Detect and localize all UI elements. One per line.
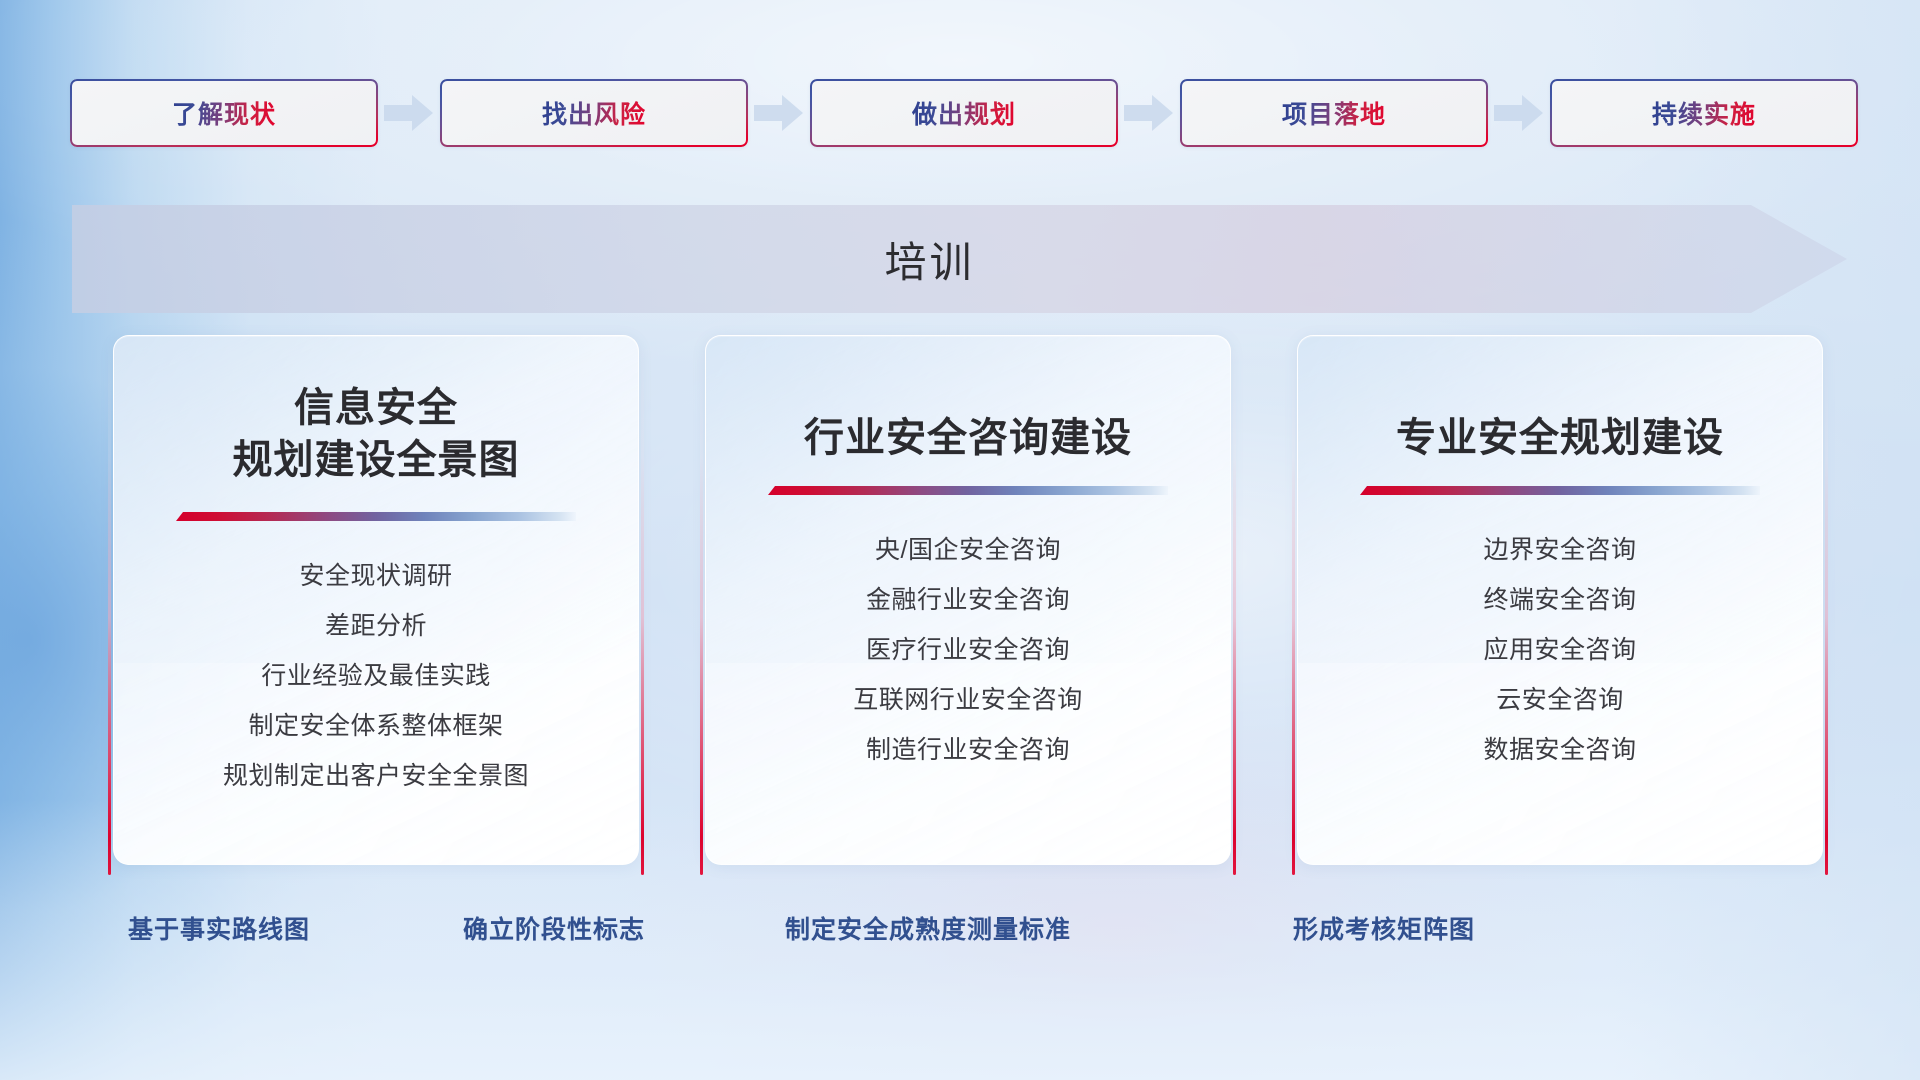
footer-label-4: 形成考核矩阵图 [1293,910,1475,946]
capability-card-row: 信息安全 规划建设全景图 安全现状调研 差距分析 行业经验及最佳实践 制定安全体… [108,335,1828,875]
list-item: 规划制定出客户安全全景图 [223,751,529,801]
step-chip-3[interactable]: 做出规划 [810,79,1118,147]
card-right-accent-bar [1233,339,1236,875]
training-banner-label: 培训 [72,205,1847,313]
card-right-accent-bar [641,339,644,875]
capability-card-3[interactable]: 专业安全规划建设 边界安全咨询 终端安全咨询 应用安全咨询 云安全咨询 数据安全… [1292,335,1828,875]
step-label-5: 持续实施 [1652,95,1756,131]
footer-label-1: 基于事实路线图 [128,910,310,946]
capability-card-1[interactable]: 信息安全 规划建设全景图 安全现状调研 差距分析 行业经验及最佳实践 制定安全体… [108,335,644,875]
list-item: 云安全咨询 [1496,675,1624,725]
card-left-accent-bar [1292,339,1295,875]
list-item: 差距分析 [325,601,427,651]
list-item: 制定安全体系整体框架 [248,701,503,751]
list-item: 数据安全咨询 [1483,725,1636,775]
footer-label-3: 制定安全成熟度测量标准 [785,910,1071,946]
step-label-4: 项目落地 [1282,95,1386,131]
card-list-2: 央/国企安全咨询 金融行业安全咨询 医疗行业安全咨询 互联网行业安全咨询 制造行… [706,525,1230,775]
card-right-accent-bar [1825,339,1828,875]
list-item: 边界安全咨询 [1483,525,1636,575]
card-divider-2 [768,486,1168,495]
list-item: 终端安全咨询 [1483,575,1636,625]
list-item: 制造行业安全咨询 [866,725,1070,775]
list-item: 央/国企安全咨询 [875,525,1061,575]
arrow-right-icon [378,90,440,136]
arrow-right-icon [1488,90,1550,136]
card-list-1: 安全现状调研 差距分析 行业经验及最佳实践 制定安全体系整体框架 规划制定出客户… [114,551,638,801]
card-divider-3 [1360,486,1760,495]
training-banner: 培训 [72,205,1847,313]
step-label-2: 找出风险 [542,95,646,131]
step-chip-4[interactable]: 项目落地 [1180,79,1488,147]
card-left-accent-bar [108,339,111,875]
step-chip-2[interactable]: 找出风险 [440,79,748,147]
list-item: 行业经验及最佳实践 [261,651,491,701]
arrow-right-icon [1118,90,1180,136]
step-chip-5[interactable]: 持续实施 [1550,79,1858,147]
slide-canvas: 了解现状 找出风险 做出规划 项目落地 [0,0,1920,1080]
step-label-1: 了解现状 [172,95,276,131]
list-item: 互联网行业安全咨询 [853,675,1083,725]
footer-label-2: 确立阶段性标志 [463,910,645,946]
list-item: 应用安全咨询 [1483,625,1636,675]
list-item: 金融行业安全咨询 [866,575,1070,625]
card-title-3: 专业安全规划建设 [1298,412,1822,464]
step-label-3: 做出规划 [912,95,1016,131]
card-left-accent-bar [700,339,703,875]
capability-card-2[interactable]: 行业安全咨询建设 央/国企安全咨询 金融行业安全咨询 医疗行业安全咨询 互联网行… [700,335,1236,875]
step-chip-1[interactable]: 了解现状 [70,79,378,147]
list-item: 医疗行业安全咨询 [866,625,1070,675]
list-item: 安全现状调研 [299,551,452,601]
footer-label-row: 基于事实路线图 确立阶段性标志 制定安全成熟度测量标准 形成考核矩阵图 [0,910,1920,970]
process-step-row: 了解现状 找出风险 做出规划 项目落地 [70,78,1860,148]
card-title-2: 行业安全咨询建设 [706,412,1230,464]
card-title-1: 信息安全 规划建设全景图 [114,382,638,486]
card-divider-1 [176,512,576,521]
arrow-right-icon [748,90,810,136]
card-list-3: 边界安全咨询 终端安全咨询 应用安全咨询 云安全咨询 数据安全咨询 [1298,525,1822,775]
